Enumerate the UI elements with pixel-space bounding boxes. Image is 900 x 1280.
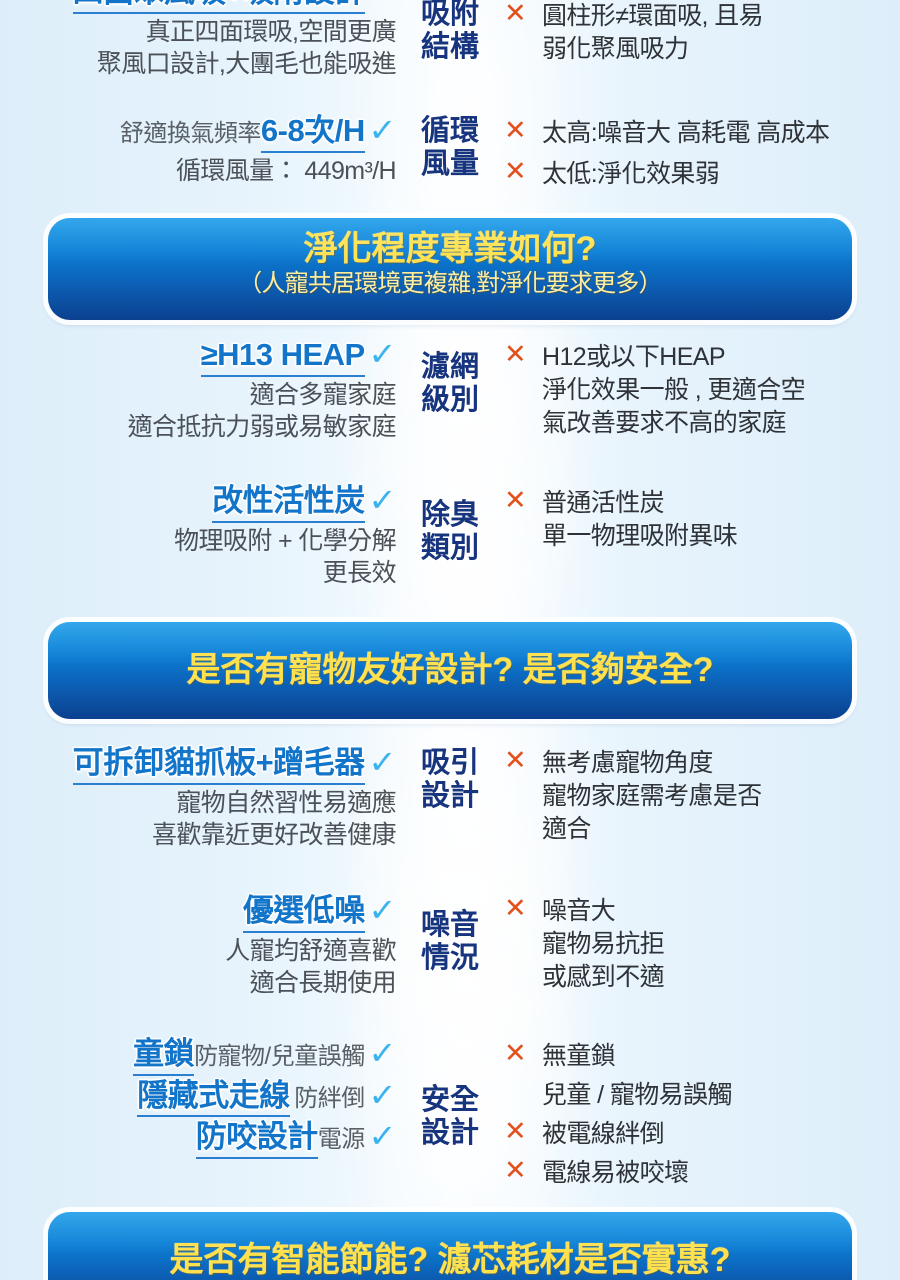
row-left-pros: 可拆卸貓抓板+蹭毛器 ✓ 寵物自然習性易適應 喜歡靠近更好改善健康 (0, 745, 400, 852)
row-category-label: 噪音 情況 (400, 893, 500, 976)
headline-line: ≥H13 HEAP ✓ (0, 337, 396, 377)
cross-icon: ✕ (504, 747, 534, 774)
con-item: ✕ 電線易被咬壞 (504, 1151, 900, 1190)
cross-icon: ✕ (504, 895, 534, 922)
cross-icon: ✕ (504, 1040, 534, 1067)
feature-headline: 童鎖 (133, 1036, 194, 1076)
row-right-cons: ✕ 無考慮寵物角度 寵物家庭需考慮是否 適合 (500, 745, 900, 846)
row-left-pros: 改性活性炭 ✓ 物理吸附 + 化學分解 更長效 (0, 483, 400, 590)
con-text: 無童鎖 (542, 1040, 900, 1073)
row-left-pros: ≥H13 HEAP ✓ 適合多寵家庭 適合抵抗力弱或易敏家庭 (0, 337, 400, 444)
pro-line: 真正四面環吸,空間更廣 (0, 16, 396, 49)
con-item: ✕ 無童鎖 (504, 1036, 900, 1073)
midlabel-line: 設計 (400, 780, 500, 813)
headline-line: 隱藏式走線 防絆倒 ✓ (0, 1078, 396, 1118)
comparison-row-safety-design: 童鎖防寵物/兒童誤觸 ✓ 隱藏式走線 防絆倒 ✓ 防咬設計電源 ✓ 安全 設計 … (0, 1036, 900, 1190)
midlabel-stack: 循環 風量 (400, 113, 500, 182)
feature-headline: 隱藏式走線 (137, 1078, 290, 1118)
comparison-row-noise-condition: 優選低噪 ✓ 人寵均舒適喜歡 適合長期使用 噪音 情況 ✕ 噪音大 寵物易抗拒 … (0, 893, 900, 1000)
midlabel-line: 吸附 (400, 0, 500, 31)
con-text: 太高:噪音大 高耗電 高成本 (542, 117, 900, 150)
feature-headline: ≥H13 HEAP (201, 337, 365, 377)
con-line: 噪音大 (542, 895, 900, 928)
cross-icon: ✕ (504, 341, 534, 368)
midlabel-stack: 除臭 類別 (400, 483, 500, 566)
con-text: 圓柱形≠環面吸, 且易 弱化聚風吸力 (542, 0, 900, 66)
banner-title: 淨化程度專業如何? (68, 230, 832, 268)
section-banner-pet-friendly-safety: 是否有寵物友好設計? 是否夠安全? (48, 622, 852, 719)
row-right-cons: ✕ 噪音大 寵物易抗拒 或感到不適 (500, 893, 900, 994)
midlabel-stack: 吸附 結構 (400, 0, 500, 65)
midlabel-line: 結構 (400, 31, 500, 64)
con-text: 噪音大 寵物易抗拒 或感到不適 (542, 895, 900, 994)
row-left-pros: 優選低噪 ✓ 人寵均舒適喜歡 適合長期使用 (0, 893, 400, 1000)
midlabel-line: 級別 (400, 384, 500, 417)
midlabel-stack: 吸引 設計 (400, 745, 500, 814)
check-icon: ✓ (369, 1037, 397, 1069)
pro-line: 聚風口設計,大團毛也能吸進 (0, 48, 396, 81)
banner-title: 是否有寵物友好設計? 是否夠安全? (187, 651, 714, 689)
midlabel-line: 類別 (400, 532, 500, 565)
con-text: 普通活性炭 單一物理吸附異味 (542, 487, 900, 553)
row-right-cons: ✕ 普通活性炭 單一物理吸附異味 (500, 483, 900, 553)
headline-line: 四面聚風吸+吸附設計 ✓ (0, 0, 396, 14)
con-line: 寵物易抗拒 (542, 928, 900, 961)
check-icon: ✓ (369, 894, 397, 926)
con-text: 被電線絆倒 (542, 1118, 900, 1151)
row-category-label: 濾網 級別 (400, 337, 500, 418)
feature-headline: 防咬設計 (196, 1119, 318, 1159)
pro-line: 適合多寵家庭 (0, 379, 396, 412)
check-icon: ✓ (369, 1079, 397, 1111)
con-item: ✕ 無考慮寵物角度 寵物家庭需考慮是否 適合 (504, 745, 900, 846)
comparison-row-deodorization-type: 改性活性炭 ✓ 物理吸附 + 化學分解 更長效 除臭 類別 ✕ 普通活性炭 單一… (0, 483, 900, 590)
midlabel-line: 循環 (400, 115, 500, 148)
feature-headline: 四面聚風吸+吸附設計 (73, 0, 365, 14)
con-line: 兒童 / 寵物易誤觸 (542, 1079, 900, 1112)
cross-icon: ✕ (504, 117, 534, 144)
con-line: 寵物家庭需考慮是否 (542, 780, 900, 813)
con-item: ✕ 太高:噪音大 高耗電 高成本 (504, 113, 900, 150)
headline-annotation: 舒適換氣頻率 (120, 120, 261, 147)
con-line: 單一物理吸附異味 (542, 520, 900, 553)
row-left-pros: 童鎖防寵物/兒童誤觸 ✓ 隱藏式走線 防絆倒 ✓ 防咬設計電源 ✓ (0, 1036, 400, 1161)
pro-line: 物理吸附 + 化學分解 (0, 525, 396, 558)
midlabel-line: 吸引 (400, 747, 500, 780)
headline-line: 改性活性炭 ✓ (0, 483, 396, 523)
headline-line: 優選低噪 ✓ (0, 893, 396, 933)
pro-line: 寵物自然習性易適應 (0, 787, 396, 820)
pro-line: 適合抵抗力弱或易敏家庭 (0, 411, 396, 444)
comparison-row-adsorption-structure: 四面聚風吸+吸附設計 ✓ 真正四面環吸,空間更廣 聚風口設計,大團毛也能吸進 吸… (0, 0, 900, 81)
midlabel-line: 安全 (400, 1084, 500, 1117)
feature-headline: 6-8次/H (261, 113, 365, 153)
row-right-cons: ✕ H12或以下HEAP 淨化效果一般 , 更適合空 氣改善要求不高的家庭 (500, 337, 900, 440)
con-text: 電線易被咬壞 (542, 1157, 900, 1190)
con-line: 適合 (542, 813, 900, 846)
con-line: 太高:噪音大 高耗電 高成本 (542, 117, 900, 150)
con-text: 無考慮寵物角度 寵物家庭需考慮是否 適合 (542, 747, 900, 846)
pro-line: 更長效 (0, 557, 396, 590)
pro-line: 人寵均舒適喜歡 (0, 935, 396, 968)
headline-line: 舒適換氣頻率6-8次/H ✓ (0, 113, 396, 153)
con-line: 被電線絆倒 (542, 1118, 900, 1151)
cross-icon: ✕ (504, 1157, 534, 1184)
headline-line: 童鎖防寵物/兒童誤觸 ✓ (0, 1036, 396, 1076)
midlabel-stack: 安全 設計 (400, 1036, 500, 1151)
con-item: 兒童 / 寵物易誤觸 (504, 1073, 900, 1112)
con-line: 弱化聚風吸力 (542, 33, 900, 66)
row-category-label: 循環 風量 (400, 113, 500, 182)
row-category-label: 吸附 結構 (400, 0, 500, 65)
row-category-label: 吸引 設計 (400, 745, 500, 814)
midlabel-stack: 噪音 情況 (400, 893, 500, 976)
midlabel-line: 風量 (400, 148, 500, 181)
pro-line: 循環風量： 449m³/H (0, 155, 396, 188)
headline-annotation: 防絆倒 (294, 1085, 365, 1112)
row-right-cons: ✕ 太高:噪音大 高耗電 高成本 ✕ 太低:淨化效果弱 (500, 113, 900, 191)
comparison-row-attraction-design: 可拆卸貓抓板+蹭毛器 ✓ 寵物自然習性易適應 喜歡靠近更好改善健康 吸引 設計 … (0, 745, 900, 852)
con-line: H12或以下HEAP (542, 341, 900, 374)
headline-annotation: 防寵物/兒童誤觸 (194, 1043, 365, 1070)
row-left-pros: 舒適換氣頻率6-8次/H ✓ 循環風量： 449m³/H (0, 113, 400, 187)
banner-subtitle: （人寵共居環境更複雜,對淨化要求更多） (68, 270, 832, 299)
row-right-cons: ✕ 無童鎖 兒童 / 寵物易誤觸 ✕ 被電線絆倒 ✕ 電線易 (500, 1036, 900, 1190)
cross-icon: ✕ (504, 1118, 534, 1145)
con-item: ✕ 噪音大 寵物易抗拒 或感到不適 (504, 893, 900, 994)
comparison-row-filter-grade: ≥H13 HEAP ✓ 適合多寵家庭 適合抵抗力弱或易敏家庭 濾網 級別 ✕ H… (0, 337, 900, 444)
row-category-label: 安全 設計 (400, 1036, 500, 1151)
row-category-label: 除臭 類別 (400, 483, 500, 566)
pro-line: 適合長期使用 (0, 967, 396, 1000)
con-item: ✕ 普通活性炭 單一物理吸附異味 (504, 483, 900, 553)
check-icon: ✓ (369, 746, 397, 778)
check-icon: ✓ (369, 0, 397, 7)
con-line: 或感到不適 (542, 961, 900, 994)
headline-group: 四面聚風吸+吸附設計 ✓ (0, 0, 396, 14)
feature-headline: 可拆卸貓抓板+蹭毛器 (73, 745, 365, 785)
feature-headline: 改性活性炭 (212, 483, 365, 523)
headline-line: 可拆卸貓抓板+蹭毛器 ✓ (0, 745, 396, 785)
con-text: H12或以下HEAP 淨化效果一般 , 更適合空 氣改善要求不高的家庭 (542, 341, 900, 440)
con-line: 太低:淨化效果弱 (542, 158, 900, 191)
comparison-row-circulation-airflow: 舒適換氣頻率6-8次/H ✓ 循環風量： 449m³/H 循環 風量 ✕ 太高:… (0, 113, 900, 191)
con-line: 普通活性炭 (542, 487, 900, 520)
check-icon: ✓ (369, 338, 397, 370)
cross-icon: ✕ (504, 158, 534, 185)
midlabel-line: 除臭 (400, 499, 500, 532)
headline-annotation: 電源 (318, 1126, 365, 1153)
row-left-pros: 四面聚風吸+吸附設計 ✓ 真正四面環吸,空間更廣 聚風口設計,大團毛也能吸進 (0, 0, 400, 81)
con-line: 淨化效果一般 , 更適合空 (542, 374, 900, 407)
midlabel-line: 情況 (400, 942, 500, 975)
check-icon: ✓ (369, 1120, 397, 1152)
con-item: ✕ H12或以下HEAP 淨化效果一般 , 更適合空 氣改善要求不高的家庭 (504, 337, 900, 440)
comparison-infographic-page: 四面聚風吸+吸附設計 ✓ 真正四面環吸,空間更廣 聚風口設計,大團毛也能吸進 吸… (0, 0, 900, 1280)
pro-line: 喜歡靠近更好改善健康 (0, 819, 396, 852)
section-banner-smart-energy-filter-cost: 是否有智能節能? 濾芯耗材是否實惠? (48, 1212, 852, 1280)
banner-title: 是否有智能節能? 濾芯耗材是否實惠? (170, 1241, 731, 1279)
con-line: 無考慮寵物角度 (542, 747, 900, 780)
section-banner-purification-level: 淨化程度專業如何? （人寵共居環境更複雜,對淨化要求更多） (48, 218, 852, 320)
check-icon: ✓ (369, 114, 397, 146)
con-line: 電線易被咬壞 (542, 1157, 900, 1190)
check-icon: ✓ (369, 484, 397, 516)
con-line: 圓柱形≠環面吸, 且易 (542, 0, 900, 33)
cross-icon: ✕ (504, 0, 534, 27)
cross-icon: ✕ (504, 487, 534, 514)
con-item: ✕ 太低:淨化效果弱 (504, 150, 900, 191)
midlabel-line: 濾網 (400, 351, 500, 384)
con-line: 氣改善要求不高的家庭 (542, 407, 900, 440)
headline-line: 防咬設計電源 ✓ (0, 1119, 396, 1159)
con-text: 太低:淨化效果弱 (542, 158, 900, 191)
con-text: 兒童 / 寵物易誤觸 (542, 1079, 900, 1112)
midlabel-line: 設計 (400, 1117, 500, 1150)
con-item: ✕ 圓柱形≠環面吸, 且易 弱化聚風吸力 (504, 0, 900, 66)
row-right-cons: ✕ 圓柱形≠環面吸, 且易 弱化聚風吸力 (500, 0, 900, 66)
midlabel-line: 噪音 (400, 909, 500, 942)
feature-headline: 優選低噪 (243, 893, 365, 933)
con-item: ✕ 被電線絆倒 (504, 1112, 900, 1151)
con-line: 無童鎖 (542, 1040, 900, 1073)
midlabel-stack: 濾網 級別 (400, 337, 500, 418)
